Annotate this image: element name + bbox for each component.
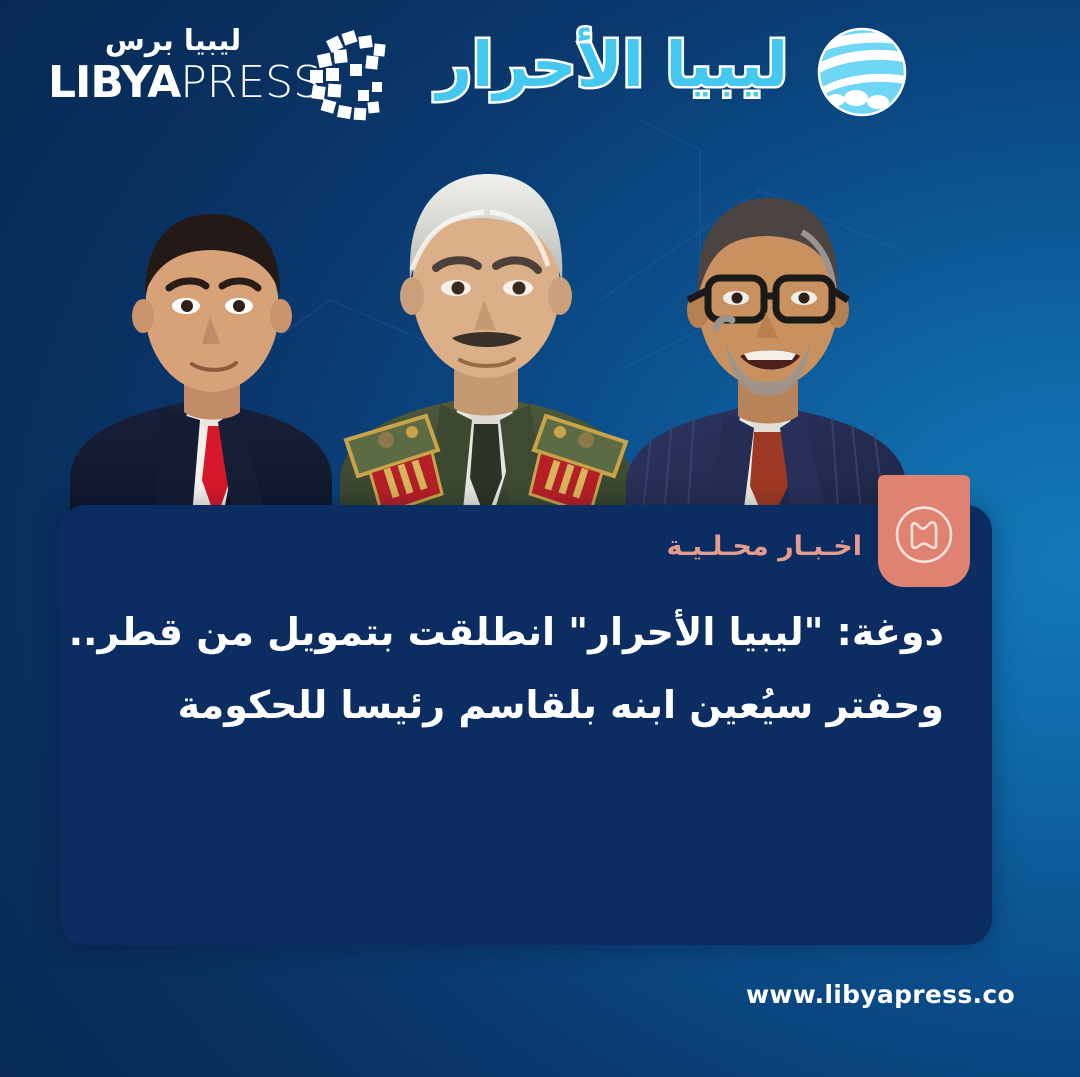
- libya-press-latin-name: LIBYAPRESS: [48, 61, 298, 105]
- libya-alahrar-logo[interactable]: ليبيا الأحرار: [478, 20, 908, 135]
- subject-analyst-right: [626, 198, 906, 540]
- website-url[interactable]: www.libyapress.co: [746, 980, 1015, 1009]
- libya-map-circle-icon: [893, 504, 955, 566]
- headline-text: دوغة: "ليبيا الأحرار" انطلقت بتمويل من ق…: [108, 601, 944, 736]
- libya-press-arabic-name: ليبيا برس: [48, 26, 298, 55]
- subject-military-officer-center: [340, 174, 632, 540]
- headline-card: اخـبـار محـلـيـة دوغة: "ليبيا الأحرار" ا…: [60, 505, 992, 945]
- poster-header: ليبيا برس LIBYAPRESS: [0, 0, 1080, 150]
- checkered-globe-icon: [296, 30, 388, 128]
- libya-press-latin-bold: LIBYA: [48, 57, 180, 108]
- headline-line-1: دوغة: "ليبيا الأحرار" انطلقت بتمويل من ق…: [108, 601, 944, 664]
- striped-globe-icon: [816, 26, 908, 118]
- libya-alahrar-wordmark: ليبيا الأحرار: [436, 26, 788, 104]
- subjects-photo-group: [40, 120, 1000, 540]
- category-label: اخـبـار محـلـيـة: [666, 531, 862, 562]
- category-row: اخـبـار محـلـيـة: [60, 513, 992, 593]
- category-badge: [878, 475, 970, 587]
- libya-press-wordmark: ليبيا برس LIBYAPRESS: [48, 26, 298, 105]
- headline-line-2: وحفتر سيُعين ابنه بلقاسم رئيسا للحكومة: [108, 674, 944, 737]
- libya-press-logo[interactable]: ليبيا برس LIBYAPRESS: [48, 22, 378, 132]
- subject-politician-left: [70, 214, 332, 540]
- news-poster: ليبيا برس LIBYAPRESS: [0, 0, 1080, 1077]
